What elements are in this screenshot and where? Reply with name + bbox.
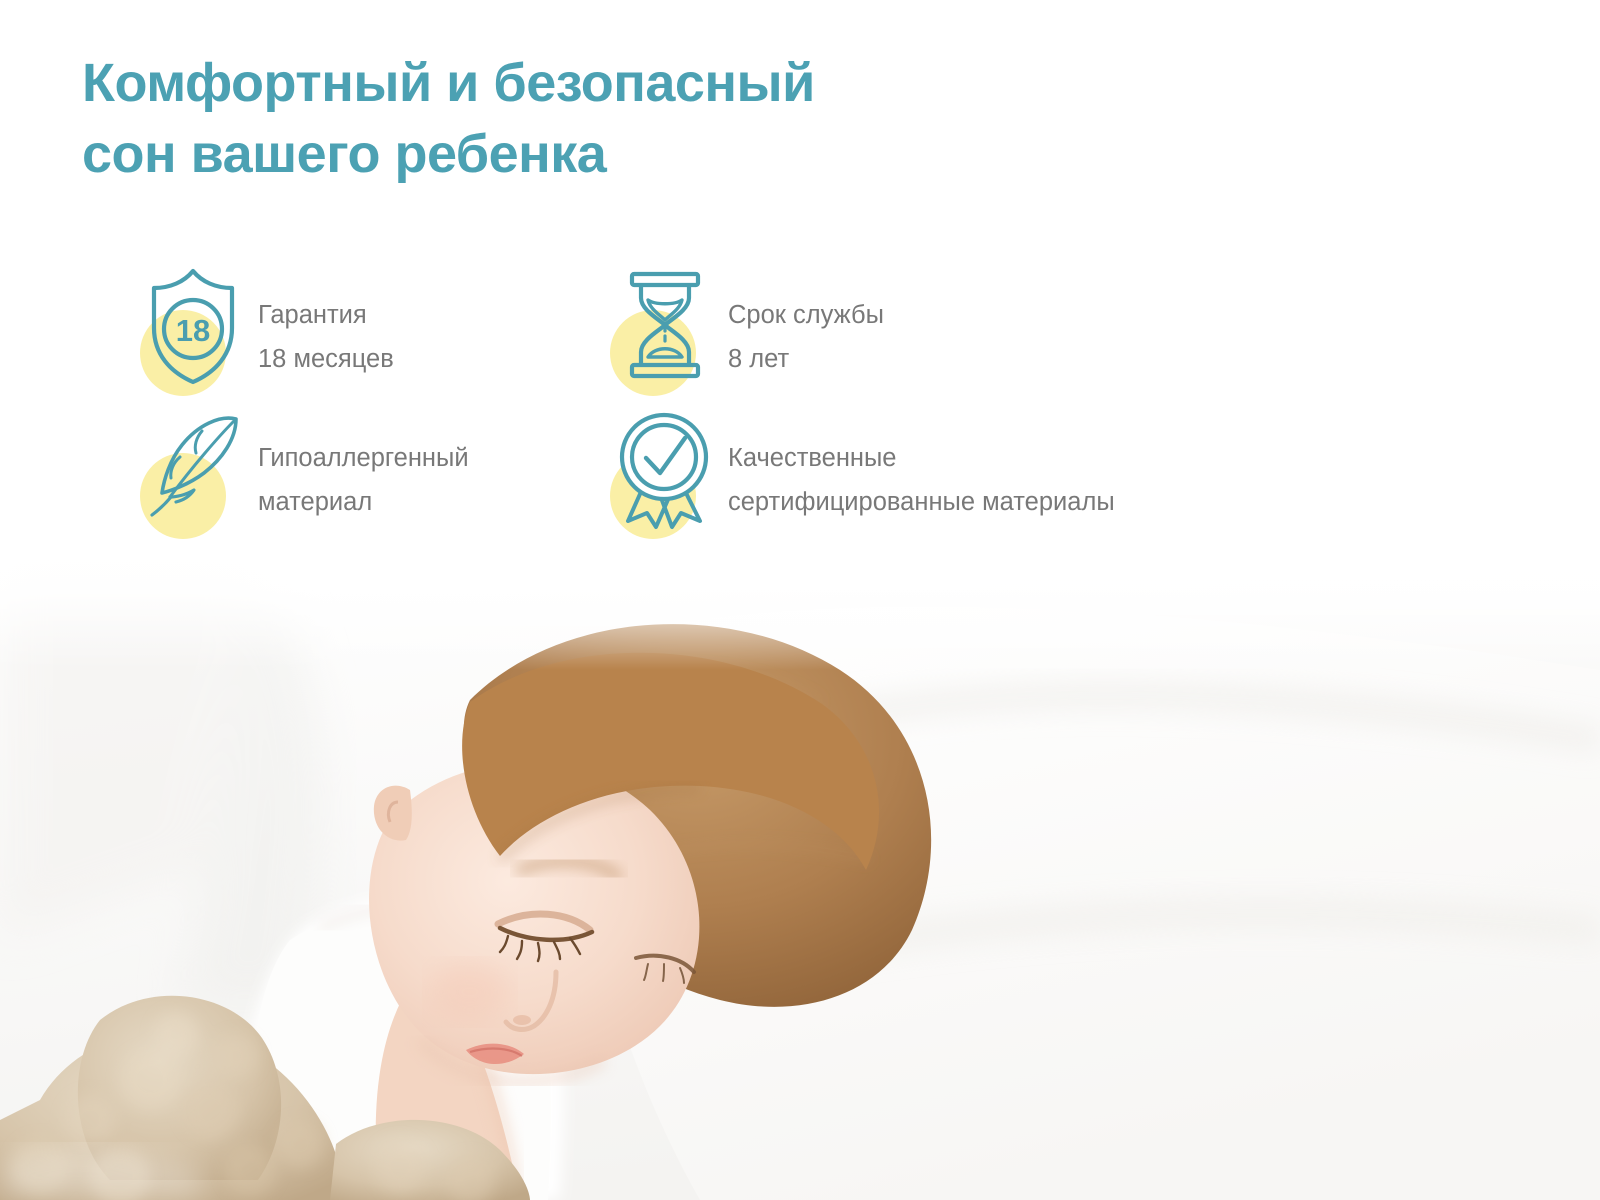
hourglass-icon bbox=[610, 262, 728, 387]
feature-warranty-text: Гарантия 18 месяцев bbox=[258, 262, 394, 382]
hero-photo bbox=[0, 540, 1600, 1200]
promo-banner: Комфортный и безопасный сон вашего ребен… bbox=[0, 0, 1600, 1200]
feature-certified: Качественные сертифицированные материалы bbox=[610, 405, 1310, 530]
award-ribbon-check-icon bbox=[610, 405, 728, 530]
shield-badge-number: 18 bbox=[176, 313, 210, 348]
shield-18-icon: 18 bbox=[140, 262, 258, 387]
feature-lifetime-text: Срок службы 8 лет bbox=[728, 262, 884, 382]
feature-lifetime: Срок службы 8 лет bbox=[610, 262, 1310, 387]
feature-lifetime-line-2: 8 лет bbox=[728, 338, 884, 382]
feature-hypoallergenic-text: Гипоаллергенный материал bbox=[258, 405, 469, 525]
feature-hypoallergenic-line-2: материал bbox=[258, 481, 469, 525]
feature-row-2: Гипоаллергенный материал bbox=[140, 405, 1340, 530]
page-title-line-1: Комфортный и безопасный bbox=[82, 48, 1082, 119]
feature-certified-text: Качественные сертифицированные материалы bbox=[728, 405, 1115, 525]
feature-hypoallergenic: Гипоаллергенный материал bbox=[140, 405, 610, 530]
feature-lifetime-line-1: Срок службы bbox=[728, 294, 884, 338]
page-title: Комфортный и безопасный сон вашего ребен… bbox=[82, 48, 1082, 191]
feature-warranty-line-2: 18 месяцев bbox=[258, 338, 394, 382]
page-title-line-2: сон вашего ребенка bbox=[82, 119, 1082, 190]
feather-icon bbox=[140, 405, 258, 530]
feature-warranty: 18 Гарантия 18 месяцев bbox=[140, 262, 610, 387]
feature-hypoallergenic-line-1: Гипоаллергенный bbox=[258, 437, 469, 481]
feature-certified-line-2: сертифицированные материалы bbox=[728, 481, 1115, 525]
feature-row-1: 18 Гарантия 18 месяцев bbox=[140, 262, 1340, 387]
feature-warranty-line-1: Гарантия bbox=[258, 294, 394, 338]
feature-list: 18 Гарантия 18 месяцев bbox=[140, 262, 1340, 530]
feature-certified-line-1: Качественные bbox=[728, 437, 1115, 481]
